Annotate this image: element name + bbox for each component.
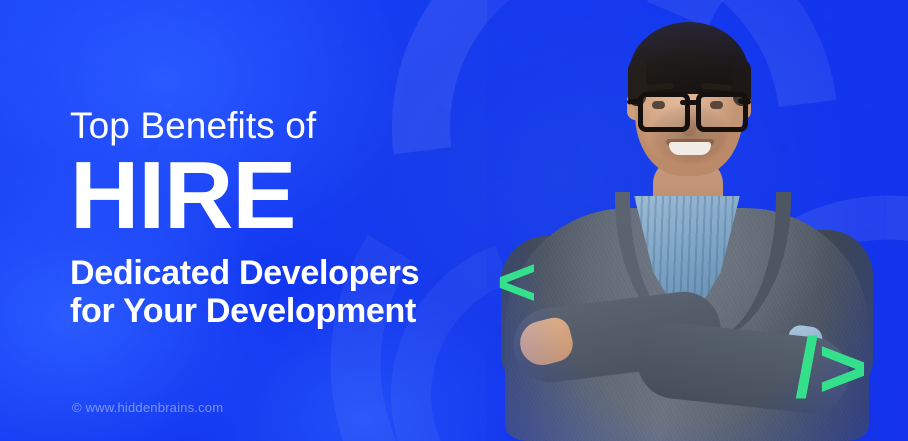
hair — [629, 22, 749, 94]
headline-subline-2: for Your Development — [70, 292, 490, 330]
eyeglasses-bridge — [680, 100, 698, 105]
headline-subline-1: Dedicated Developers — [70, 254, 490, 292]
eyeglasses-lens-left — [638, 92, 690, 132]
hire-dedicated-developers-banner: < /> Top Benefits of HIRE Dedicated Deve… — [0, 0, 908, 441]
headline-hero: HIRE — [70, 150, 490, 242]
smile-teeth — [669, 142, 711, 155]
angle-bracket-open-icon: < — [497, 248, 537, 316]
code-close-tag-icon: /> — [795, 326, 867, 410]
headline-block: Top Benefits of HIRE Dedicated Developer… — [70, 104, 490, 330]
watermark-copyright: © www.hiddenbrains.com — [72, 400, 223, 416]
